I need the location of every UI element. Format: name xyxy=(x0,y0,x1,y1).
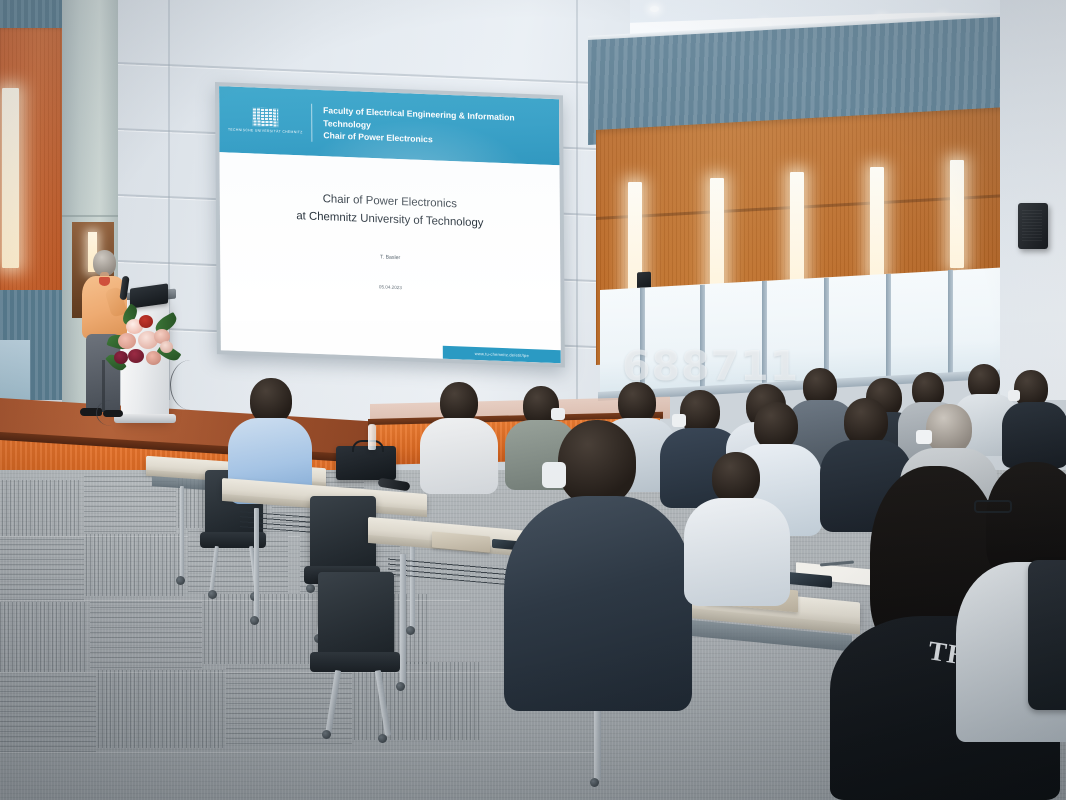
flower xyxy=(160,341,173,353)
projection-screen[interactable]: Technische Universität Chemnitz Faculty … xyxy=(215,82,565,367)
slide-footer-url: www.tu-chemnitz.de/etit/lpe xyxy=(475,351,529,358)
carpet-tile xyxy=(90,598,202,668)
carpet-tile xyxy=(204,594,316,664)
carpet-tile xyxy=(0,538,84,600)
torso xyxy=(684,498,790,606)
torso xyxy=(504,496,692,711)
flower xyxy=(128,349,144,363)
slide-body: Chair of Power Electronics at Chemnitz U… xyxy=(219,152,560,363)
wall-light-strip xyxy=(710,178,724,293)
slide-date: 05.04.2023 xyxy=(220,278,560,296)
water-bottle xyxy=(368,424,376,450)
backpack xyxy=(1028,560,1066,710)
head xyxy=(712,452,760,504)
floor-cable xyxy=(96,400,127,426)
wall-panel-joint xyxy=(576,0,578,400)
flower xyxy=(139,315,153,328)
flower-arrangement xyxy=(106,305,180,377)
carpet-tile xyxy=(98,670,224,748)
slide-author: T. Basler xyxy=(220,248,560,267)
head xyxy=(558,420,636,506)
face-mask-icon xyxy=(551,408,565,420)
slide-title: Chair of Power Electronics at Chemnitz U… xyxy=(220,186,560,236)
chair-caster xyxy=(378,734,387,743)
wall-light-strip xyxy=(790,172,804,284)
desk-caster xyxy=(406,626,415,635)
desk-leg xyxy=(180,486,184,578)
lecture-hall-photo: Technische Universität Chemnitz Faculty … xyxy=(0,0,1066,800)
flower xyxy=(118,333,136,349)
wall-light-strip xyxy=(2,88,19,268)
face-mask-icon xyxy=(1008,390,1020,401)
desk-caster xyxy=(250,616,259,625)
carpet-seam xyxy=(0,752,600,753)
carpet-tile xyxy=(354,662,480,740)
loudspeaker-icon xyxy=(1018,203,1048,249)
carpet-tile xyxy=(0,602,88,672)
wall-light-strip xyxy=(950,160,964,268)
logo-caption: Technische Universität Chemnitz xyxy=(228,128,303,136)
flower xyxy=(146,351,161,365)
desk-caster xyxy=(176,576,185,585)
desk-leg xyxy=(254,508,259,618)
slide-surface: Technische Universität Chemnitz Faculty … xyxy=(219,86,561,363)
torso xyxy=(1002,402,1066,468)
right-wall xyxy=(1000,0,1066,400)
window-mullion xyxy=(948,270,953,380)
flower xyxy=(114,351,128,364)
face-mask-icon xyxy=(916,430,932,444)
head xyxy=(754,402,798,450)
slide-header-text: Faculty of Electrical Engineering & Info… xyxy=(312,104,559,151)
window-left xyxy=(0,340,30,400)
floor-cable xyxy=(170,360,211,410)
desk-leg xyxy=(400,554,406,684)
slide-footer-url-bar: www.tu-chemnitz.de/etit/lpe xyxy=(443,346,561,364)
ceiling-downlight xyxy=(650,6,659,12)
image-watermark: 688711 xyxy=(622,342,799,390)
presenter-collar xyxy=(99,277,110,286)
face-mask-icon xyxy=(542,462,566,488)
carpet-tile xyxy=(0,480,82,536)
wood-panel-left xyxy=(0,28,66,300)
desk-caster xyxy=(396,682,405,691)
carpet-tile xyxy=(86,534,186,596)
chair-caster xyxy=(322,730,331,739)
window-mullion xyxy=(886,274,891,384)
chair-caster xyxy=(208,590,217,599)
desk-caster xyxy=(590,778,599,787)
chair-seat[interactable] xyxy=(310,652,400,672)
head xyxy=(844,398,888,446)
carpet-tile xyxy=(0,674,96,752)
chair[interactable] xyxy=(310,496,376,570)
desk-caster xyxy=(306,584,315,593)
tu-chemnitz-logo-icon xyxy=(252,107,278,127)
head xyxy=(926,404,972,454)
glasses-icon xyxy=(974,500,1012,513)
column-seam xyxy=(62,215,120,217)
university-logo: Technische Universität Chemnitz xyxy=(219,106,311,135)
face-mask-icon xyxy=(672,414,686,427)
wall-light-strip xyxy=(870,167,884,277)
carpet-seam xyxy=(0,672,530,673)
torso xyxy=(420,418,498,494)
chair[interactable] xyxy=(318,572,394,658)
